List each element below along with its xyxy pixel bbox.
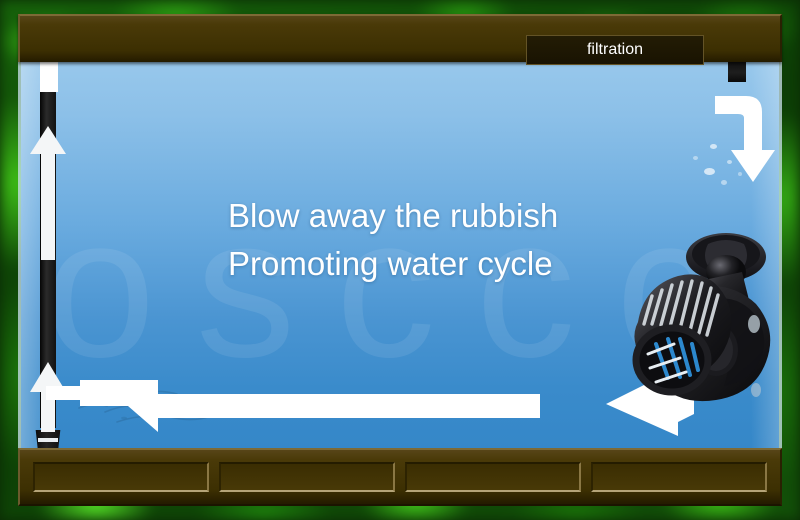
arrow-nozzle-outflow [46,380,158,406]
slogan-line-1: Blow away the rubbish [228,192,558,240]
frame-panel [591,462,767,492]
filtration-label: filtration [526,35,704,65]
frame-panel [33,462,209,492]
frame-panel [219,462,395,492]
frame-panel [405,462,581,492]
wave-maker-pump [630,232,780,417]
arrow-filter-return [715,96,775,182]
filtration-label-text: filtration [587,41,643,59]
aquarium-tank: osccc [18,14,782,506]
slogan-line-2: Promoting water cycle [228,240,558,288]
slogan-text: Blow away the rubbish Promoting water cy… [228,192,558,288]
arrow-pipe-up-upper [30,126,66,260]
tank-frame-bottom [18,448,782,506]
arrow-bottom-flow [128,380,540,432]
